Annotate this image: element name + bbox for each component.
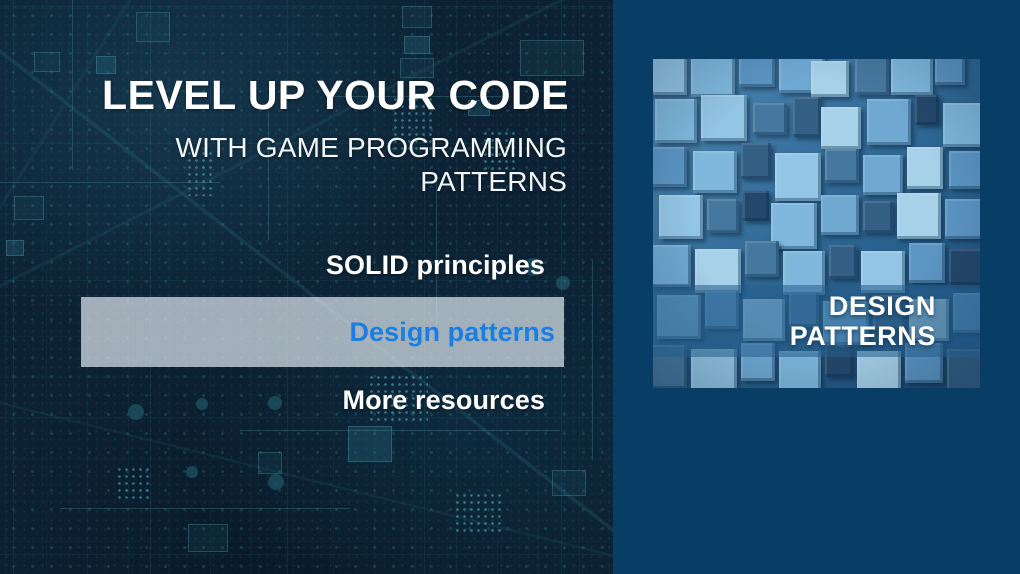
left-content: LEVEL UP YOUR CODE WITH GAME PROGRAMMING… — [0, 0, 613, 574]
right-panel: DESIGN PATTERNS Design patterns are reus… — [613, 0, 1020, 574]
menu-item-design-patterns-label: Design patterns — [349, 317, 555, 348]
menu-item-solid-principles[interactable]: SOLID principles — [326, 250, 545, 281]
design-patterns-cube-mosaic-image: DESIGN PATTERNS — [653, 59, 980, 388]
page-subtitle: WITH GAME PROGRAMMING PATTERNS — [120, 131, 567, 199]
page-title: LEVEL UP YOUR CODE — [0, 74, 569, 117]
caption-line-design: DESIGN — [829, 291, 936, 321]
menu-item-design-patterns-highlight[interactable]: Design patterns — [81, 297, 564, 367]
menu-item-more-resources[interactable]: More resources — [343, 385, 546, 416]
left-panel: LEVEL UP YOUR CODE WITH GAME PROGRAMMING… — [0, 0, 613, 574]
caption-line-patterns: PATTERNS — [790, 321, 936, 351]
image-caption-band: DESIGN PATTERNS — [653, 285, 980, 357]
slide-root: LEVEL UP YOUR CODE WITH GAME PROGRAMMING… — [0, 0, 1020, 574]
